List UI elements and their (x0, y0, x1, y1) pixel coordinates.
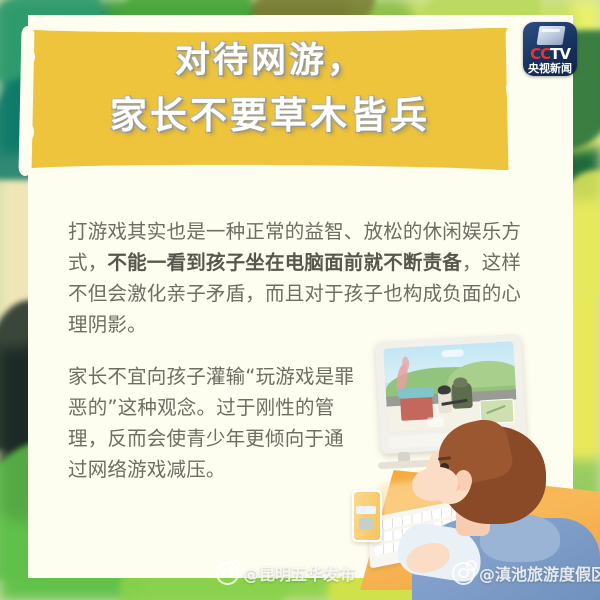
watermark-right-handle: @滇池旅游度假区 (479, 561, 600, 585)
tv-screen-icon (536, 26, 565, 45)
title-banner: 对待网游， 家长不要草木皆兵 (27, 20, 513, 178)
watermark-left-handle: @昆明五华发布 (243, 561, 355, 585)
game-screen (383, 341, 517, 432)
illustration-boy-gaming (360, 330, 600, 590)
game-character-2-head (453, 377, 468, 388)
cup-label-art (359, 518, 373, 530)
weibo-icon (452, 562, 475, 585)
cctv-chinese-label: 央视新闻 (523, 60, 577, 76)
game-character-head (438, 385, 451, 395)
watermark-right: @滇池旅游度假区 (452, 561, 600, 585)
poster-title: 对待网游， 家长不要草木皆兵 (27, 34, 513, 142)
game-cloud (442, 349, 464, 357)
game-smoke-puff (402, 356, 410, 370)
paragraph-1: 打游戏其实也是一种正常的益智、放松的休闲娱乐方式，不能一看到孩子坐在电脑面前就不… (68, 216, 538, 340)
weibo-icon (216, 562, 239, 585)
paragraph-2: 家长不宜向孩子灌输“玩游戏是罪恶的”这种观念。过于刚性的管理，反而会使青少年更倾… (68, 361, 356, 485)
cctv-news-logo: CCTV 央视新闻 (523, 22, 577, 76)
poster-canvas: 对待网游， 家长不要草木皆兵 CCTV 央视新闻 打游戏其实也是一种正常的益智、… (0, 0, 600, 600)
game-hud-panel (427, 416, 444, 427)
drink-cup (352, 490, 382, 542)
watermark-left: @昆明五华发布 (216, 561, 355, 585)
p1-run-2-bold: 不能一看到孩子坐在电脑面前就不断责备 (107, 251, 462, 274)
title-line-2: 家长不要草木皆兵 (27, 88, 513, 142)
title-line-1: 对待网游， (175, 40, 365, 81)
cup-label-band (356, 506, 376, 514)
game-crate-lid (398, 387, 435, 399)
monitor-base (378, 460, 430, 470)
